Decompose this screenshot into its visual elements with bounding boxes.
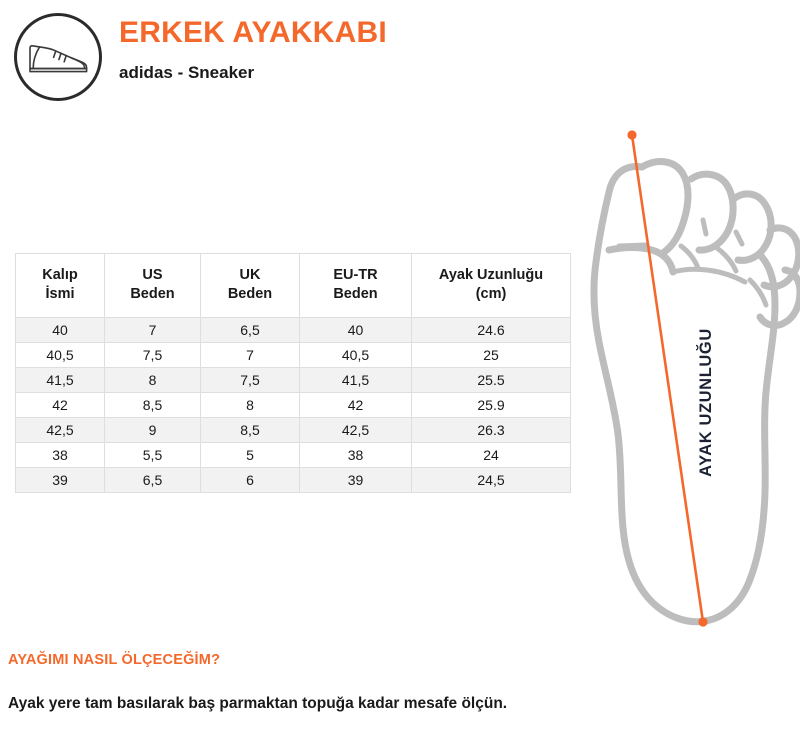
table-cell: 24 xyxy=(412,443,571,468)
table-cell: 6,5 xyxy=(201,318,300,343)
table-cell: 40 xyxy=(300,318,412,343)
column-header-kalip-ismi: Kalıp İsmi xyxy=(16,254,105,318)
foot-length-measure-line xyxy=(632,135,703,622)
table-row: 42,598,542,526.3 xyxy=(16,418,571,443)
header-text-block: ERKEK AYAKKABI adidas - Sneaker xyxy=(119,14,619,84)
column-header-line-1: Ayak Uzunluğu xyxy=(414,266,568,285)
column-header-line-2: Beden xyxy=(302,285,409,304)
table-header-row: Kalıp İsmi US Beden UK Beden EU-TR Beden… xyxy=(16,254,571,318)
column-header-uk-beden: UK Beden xyxy=(201,254,300,318)
table-cell: 5,5 xyxy=(105,443,201,468)
table-cell: 6 xyxy=(201,468,300,493)
table-cell: 25 xyxy=(412,343,571,368)
table-cell: 25.5 xyxy=(412,368,571,393)
table-cell: 42 xyxy=(16,393,105,418)
measuring-instructions: AYAĞIMI NASIL ÖLÇECEĞİM? Ayak yere tam b… xyxy=(8,652,648,713)
column-header-line-1: EU-TR xyxy=(302,266,409,285)
table-cell: 7 xyxy=(105,318,201,343)
column-header-line-2: Beden xyxy=(107,285,198,304)
page-subtitle: adidas - Sneaker xyxy=(119,62,619,84)
table-cell: 39 xyxy=(300,468,412,493)
table-cell: 24.6 xyxy=(412,318,571,343)
table-cell: 40,5 xyxy=(16,343,105,368)
column-header-line-1: Kalıp xyxy=(18,266,102,285)
foot-sole-diagram xyxy=(585,120,800,640)
table-cell: 6,5 xyxy=(105,468,201,493)
size-table-container: Kalıp İsmi US Beden UK Beden EU-TR Beden… xyxy=(15,253,570,493)
table-cell: 26.3 xyxy=(412,418,571,443)
table-cell: 41,5 xyxy=(300,368,412,393)
measure-endpoint-toe xyxy=(627,130,636,139)
table-cell: 7 xyxy=(201,343,300,368)
table-row: 385,553824 xyxy=(16,443,571,468)
table-row: 40,57,5740,525 xyxy=(16,343,571,368)
table-cell: 8 xyxy=(105,368,201,393)
table-cell: 7,5 xyxy=(105,343,201,368)
table-header: Kalıp İsmi US Beden UK Beden EU-TR Beden… xyxy=(16,254,571,318)
table-cell: 8 xyxy=(201,393,300,418)
table-cell: 42,5 xyxy=(16,418,105,443)
table-body: 4076,54024.640,57,5740,52541,587,541,525… xyxy=(16,318,571,493)
table-cell: 40,5 xyxy=(300,343,412,368)
table-cell: 40 xyxy=(16,318,105,343)
table-row: 41,587,541,525.5 xyxy=(16,368,571,393)
table-cell: 5 xyxy=(201,443,300,468)
size-chart-table: Kalıp İsmi US Beden UK Beden EU-TR Beden… xyxy=(15,253,571,493)
table-cell: 8,5 xyxy=(201,418,300,443)
table-cell: 38 xyxy=(16,443,105,468)
table-row: 396,563924,5 xyxy=(16,468,571,493)
column-header-line-1: US xyxy=(107,266,198,285)
table-cell: 42 xyxy=(300,393,412,418)
measure-endpoint-heel xyxy=(698,617,707,626)
column-header-line-2: Beden xyxy=(203,285,297,304)
table-cell: 24,5 xyxy=(412,468,571,493)
table-row: 428,584225.9 xyxy=(16,393,571,418)
table-cell: 7,5 xyxy=(201,368,300,393)
table-cell: 25.9 xyxy=(412,393,571,418)
column-header-ayak-uzunlugu: Ayak Uzunluğu (cm) xyxy=(412,254,571,318)
column-header-eu-tr-beden: EU-TR Beden xyxy=(300,254,412,318)
column-header-line-2: İsmi xyxy=(18,285,102,304)
table-row: 4076,54024.6 xyxy=(16,318,571,343)
table-cell: 9 xyxy=(105,418,201,443)
table-cell: 39 xyxy=(16,468,105,493)
column-header-line-2: (cm) xyxy=(414,285,568,304)
page-title: ERKEK AYAKKABI xyxy=(119,14,619,52)
table-cell: 42,5 xyxy=(300,418,412,443)
instructions-body: Ayak yere tam basılarak baş parmaktan to… xyxy=(8,695,648,713)
page-header: ERKEK AYAKKABI adidas - Sneaker xyxy=(0,0,800,112)
column-header-us-beden: US Beden xyxy=(105,254,201,318)
table-cell: 8,5 xyxy=(105,393,201,418)
table-cell: 41,5 xyxy=(16,368,105,393)
instructions-heading: AYAĞIMI NASIL ÖLÇECEĞİM? xyxy=(8,652,648,668)
sneaker-logo-badge xyxy=(14,13,102,101)
column-header-line-1: UK xyxy=(203,266,297,285)
sneaker-icon xyxy=(27,38,89,76)
table-cell: 38 xyxy=(300,443,412,468)
